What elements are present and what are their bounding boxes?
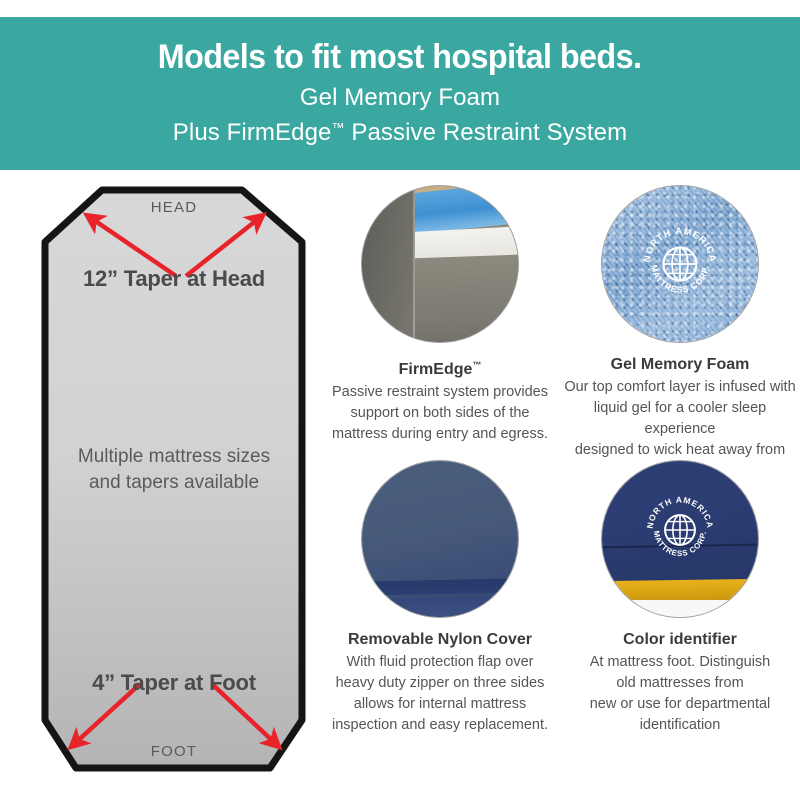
trademark-symbol: ™ [472, 360, 481, 370]
nylon-cover-photo [362, 461, 518, 617]
mattress-head-label: HEAD [40, 199, 308, 216]
mattress-center-note-line1: Multiple mattress sizes [40, 444, 308, 470]
mattress-diagram: HEAD FOOT 12” Taper at Head 4” Taper at … [40, 186, 308, 776]
desc-line: Our top comfort layer is infused with [562, 377, 798, 398]
feature-removable-nylon-cover: Removable Nylon Cover With fluid protect… [322, 461, 558, 736]
page-title: Models to fit most hospital beds. [158, 37, 642, 77]
firmedge-photo [362, 186, 518, 342]
feature-removable-nylon-cover-title: Removable Nylon Cover [348, 630, 532, 650]
desc-line: identification [562, 715, 798, 736]
desc-line: new or use for departmental [562, 694, 798, 715]
feature-removable-nylon-cover-description: With fluid protection flap over heavy du… [322, 652, 558, 736]
banner-subtitle-1: Gel Memory Foam [300, 83, 500, 112]
cover-lower-band [362, 597, 518, 617]
desc-line: allows for internal mattress [322, 694, 558, 715]
header-banner: Models to fit most hospital beds. Gel Me… [0, 17, 800, 170]
foam-dark-edge [362, 186, 415, 342]
desc-line: liquid gel for a cooler sleep experience [562, 398, 798, 440]
feature-firmedge-title-text: FirmEdge [399, 361, 473, 378]
banner-subtitle-2: Plus FirmEdge™ Passive Restraint System [173, 113, 627, 147]
mattress-center-note-line2: and tapers available [40, 470, 308, 496]
desc-line: support on both sides of the [322, 403, 558, 424]
cover-navy-area [602, 461, 758, 583]
logo-arc-bottom: MATTRESS CORP. [649, 264, 711, 295]
feature-firmedge: FirmEdge™ Passive restraint system provi… [322, 186, 558, 445]
mattress-center-note: Multiple mattress sizes and tapers avail… [40, 444, 308, 496]
desc-line: old mattresses from [562, 673, 798, 694]
svg-text:NORTH AMERICA: NORTH AMERICA [642, 226, 718, 263]
desc-line: inspection and easy replacement. [322, 715, 558, 736]
desc-line: Passive restraint system provides [322, 382, 558, 403]
desc-line: heavy duty zipper on three sides [322, 673, 558, 694]
svg-text:MATTRESS CORP.: MATTRESS CORP. [649, 264, 711, 295]
feature-firmedge-description: Passive restraint system provides suppor… [322, 382, 558, 445]
desc-line: mattress during entry and egress. [322, 424, 558, 445]
color-identifier-photo: NORTH AMERICA MATTRESS CORP. [602, 461, 758, 617]
taper-at-head-callout: 12” Taper at Head [40, 266, 308, 292]
feature-color-identifier-title: Color identifier [623, 630, 737, 650]
trademark-symbol: ™ [331, 120, 344, 135]
feature-color-identifier-description: At mattress foot. Distinguish old mattre… [562, 652, 798, 736]
feature-grid: FirmEdge™ Passive restraint system provi… [320, 186, 800, 776]
namc-globe-logo-icon: NORTH AMERICA MATTRESS CORP. [637, 221, 723, 307]
banner-subtitle-2-after: Passive Restraint System [345, 119, 628, 146]
mattress-foot-label: FOOT [40, 743, 308, 760]
desc-line: At mattress foot. Distinguish [562, 652, 798, 673]
foam-seam-line [413, 186, 415, 342]
taper-at-foot-callout: 4” Taper at Foot [40, 670, 308, 696]
cover-seam-band [362, 578, 518, 596]
feature-color-identifier: NORTH AMERICA MATTRESS CORP. Color ident… [562, 461, 798, 736]
feature-gel-memory-foam: NORTH AMERICA MATTRESS CORP. Gel Memory … [562, 186, 798, 482]
desc-line: With fluid protection flap over [322, 652, 558, 673]
cover-white-area [602, 600, 758, 617]
banner-subtitle-2-before: Plus FirmEdge [173, 119, 332, 146]
infographic-page: Models to fit most hospital beds. Gel Me… [0, 0, 800, 800]
gel-memory-foam-photo: NORTH AMERICA MATTRESS CORP. [602, 186, 758, 342]
feature-firmedge-title: FirmEdge™ [399, 355, 482, 380]
logo-arc-top: NORTH AMERICA [642, 226, 718, 263]
feature-gel-memory-foam-title: Gel Memory Foam [611, 355, 750, 375]
